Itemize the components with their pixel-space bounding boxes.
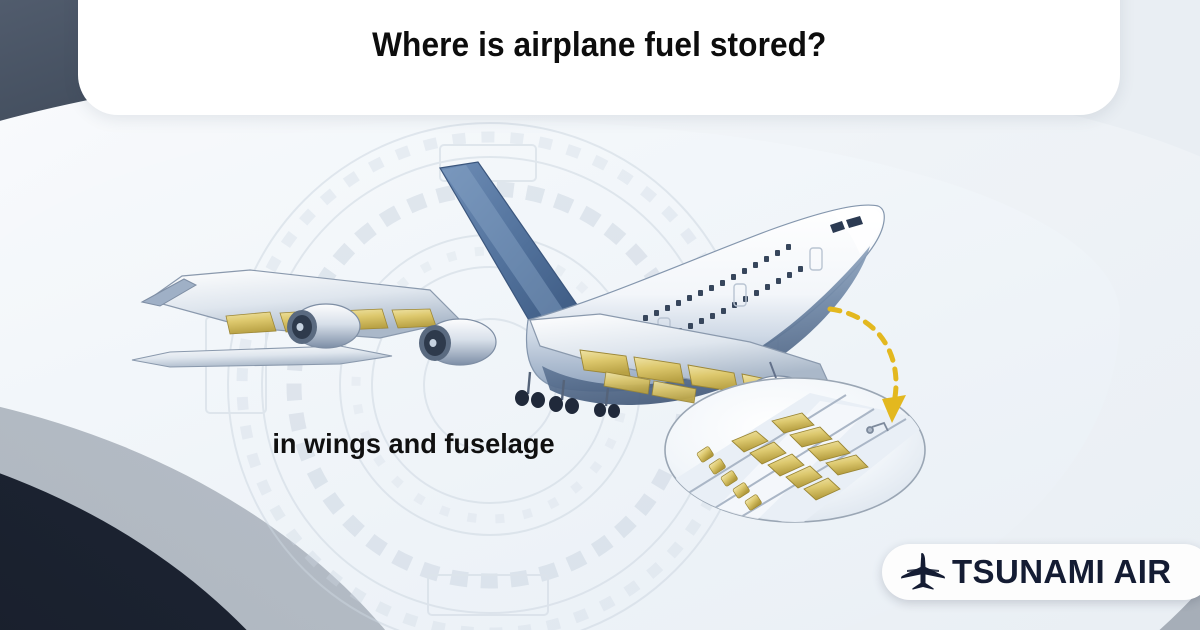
page-title: Where is airplane fuel stored? <box>372 26 826 65</box>
brand-logo[interactable]: TSUNAMI AIR <box>882 544 1200 600</box>
title-card: Where is airplane fuel stored? <box>78 0 1120 115</box>
dashed-callout-arrow <box>820 295 950 445</box>
airplane-front-icon <box>900 552 946 592</box>
brand-name: TSUNAMI AIR <box>952 553 1172 591</box>
answer-label: in wings and fuselage <box>272 428 554 460</box>
social-card: Where is airplane fuel stored? in wings … <box>0 0 1200 630</box>
